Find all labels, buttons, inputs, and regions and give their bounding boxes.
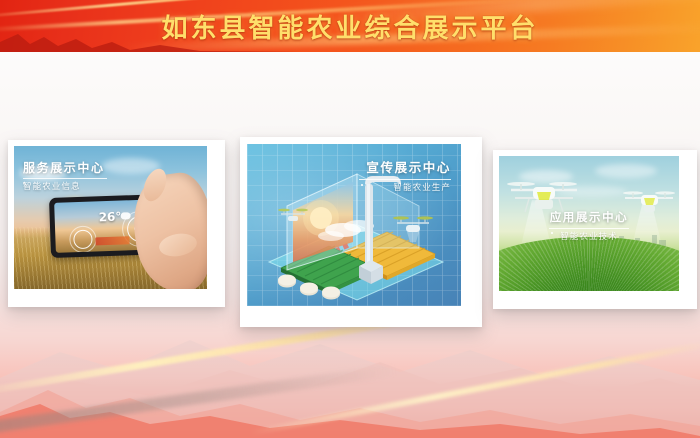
card-service[interactable]: 26° 服务展示中心 [8, 140, 225, 307]
crop-rows [499, 237, 679, 291]
caption-rule [359, 179, 451, 180]
card-application[interactable]: 应用展示中心 智能农业技术 [493, 150, 697, 309]
page-title: 如东县智能农业综合展示平台 [0, 0, 700, 52]
caption-rule [23, 178, 107, 179]
header-banner: 如东县智能农业综合展示平台 [0, 0, 700, 52]
caption-rule [549, 228, 629, 229]
card-service-image: 26° 服务展示中心 [14, 146, 207, 289]
drone-icon [621, 186, 677, 220]
card-promotion-caption: 宣传展示中心 智能农业生产 [359, 162, 451, 192]
card-promotion-subtitle: 智能农业生产 [359, 184, 451, 193]
card-application-image: 应用展示中心 智能农业技术 [499, 156, 679, 291]
hud-label-chip [95, 236, 129, 245]
page-root: 如东县智能农业综合展示平台 26° [0, 0, 700, 438]
mountain-layer-front [0, 398, 700, 438]
card-promotion-image: 宣传展示中心 智能农业生产 [247, 144, 461, 306]
card-service-title: 服务展示中心 [23, 162, 107, 174]
card-service-subtitle: 智能农业信息 [23, 183, 107, 192]
cloud-shape [595, 164, 657, 178]
card-application-caption: 应用展示中心 智能农业技术 [549, 212, 629, 241]
card-service-caption: 服务展示中心 智能农业信息 [23, 162, 107, 192]
card-application-subtitle: 智能农业技术 [549, 233, 629, 242]
card-promotion-title: 宣传展示中心 [359, 162, 451, 175]
card-application-title: 应用展示中心 [549, 212, 629, 224]
hud-temperature: 26° [98, 210, 121, 225]
hud-arc-left [69, 225, 97, 252]
card-promotion[interactable]: 宣传展示中心 智能农业生产 [240, 137, 482, 327]
